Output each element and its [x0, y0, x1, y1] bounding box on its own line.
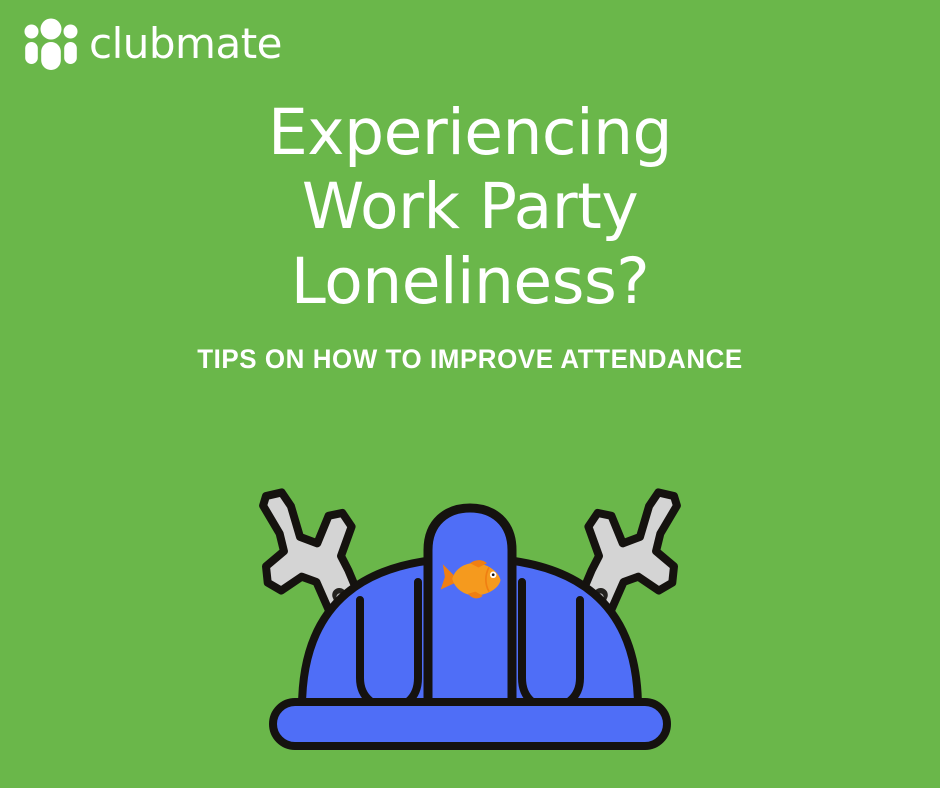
poster-canvas: clubmate Experiencing Work Party Lonelin… — [0, 0, 940, 788]
three-people-group-icon — [22, 18, 80, 70]
brand-logo[interactable]: clubmate — [22, 18, 282, 70]
headline-line-1: Experiencing — [0, 96, 940, 170]
hard-hat-with-wrenches-illustration — [185, 450, 755, 770]
page-subtitle: TIPS ON HOW TO IMPROVE ATTENDANCE — [19, 344, 921, 375]
headline-line-2: Work Party — [0, 170, 940, 244]
page-title: Experiencing Work Party Loneliness? — [0, 96, 940, 319]
brand-wordmark: clubmate — [89, 23, 282, 65]
headline-line-3: Loneliness? — [0, 245, 940, 319]
